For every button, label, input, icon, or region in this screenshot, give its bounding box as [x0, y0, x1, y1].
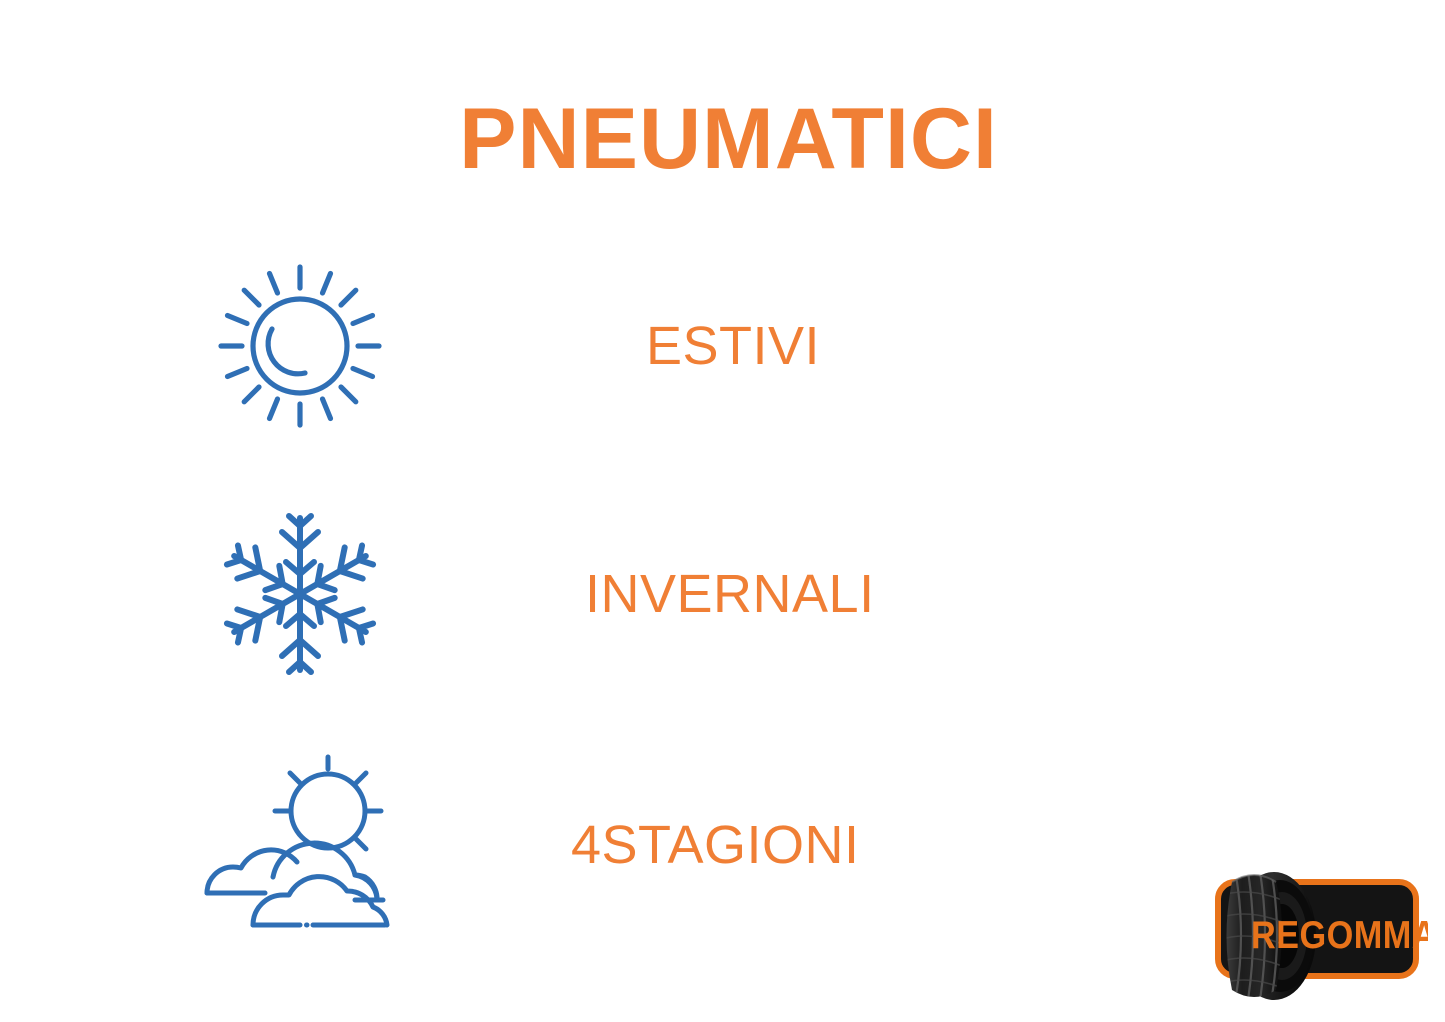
poster-canvas: PNEUMATICI: [0, 0, 1445, 1022]
tyre-category-label-winter: INVERNALI: [585, 494, 875, 694]
sun-behind-clouds-icon: [180, 745, 420, 945]
tyre-category-row-summer: ESTIVI: [0, 246, 1445, 446]
sun-icon: [180, 246, 420, 446]
snowflake-icon: [180, 494, 420, 694]
tyre-category-label-allseason: 4STAGIONI: [571, 745, 860, 945]
tyre-category-row-winter: INVERNALI: [0, 494, 1445, 694]
logo-wordmark: REGOMMA: [1251, 913, 1428, 957]
regomma-logo: REGOMMA: [1196, 860, 1428, 1012]
page-title: PNEUMATICI: [0, 96, 1445, 182]
tyre-category-label-summer: ESTIVI: [646, 246, 820, 446]
